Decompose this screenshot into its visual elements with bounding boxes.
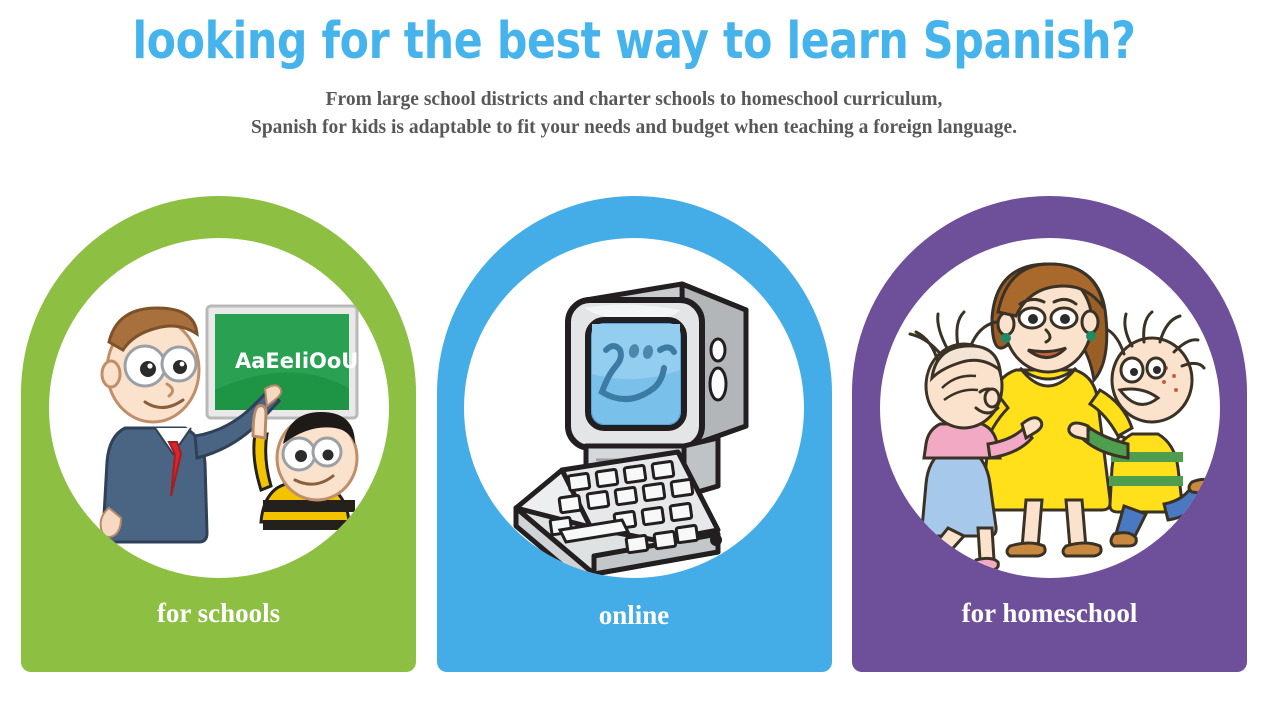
page-header: looking for the best way to learn Spanis…: [0, 0, 1268, 142]
promo-page: looking for the best way to learn Spanis…: [0, 0, 1268, 702]
subtitle-line-1: From large school districts and charter …: [0, 86, 1268, 114]
card-image-for-schools: AaEeIiOoUu: [49, 238, 389, 578]
desktop-computer-smiley-icon: [464, 238, 804, 578]
option-cards: AaEeIiOoUu: [21, 196, 1247, 674]
page-title: looking for the best way to learn Spanis…: [44, 0, 1223, 72]
card-online[interactable]: online: [437, 196, 832, 672]
card-image-online: [464, 238, 804, 578]
page-subtitle: From large school districts and charter …: [0, 72, 1268, 142]
card-for-schools[interactable]: AaEeIiOoUu: [21, 196, 416, 672]
svg-text:AaEeIiOoUu: AaEeIiOoUu: [235, 349, 373, 373]
subtitle-line-2: Spanish for kids is adaptable to fit you…: [0, 114, 1268, 142]
card-label-online: online: [437, 598, 832, 632]
card-label-for-homeschool: for homeschool: [852, 596, 1247, 630]
teacher-at-chalkboard-icon: AaEeIiOoUu: [49, 238, 389, 578]
card-label-for-schools: for schools: [21, 596, 416, 630]
card-for-homeschool[interactable]: for homeschool: [852, 196, 1247, 672]
card-image-for-homeschool: [880, 238, 1220, 578]
mother-with-two-children-icon: [880, 238, 1220, 578]
